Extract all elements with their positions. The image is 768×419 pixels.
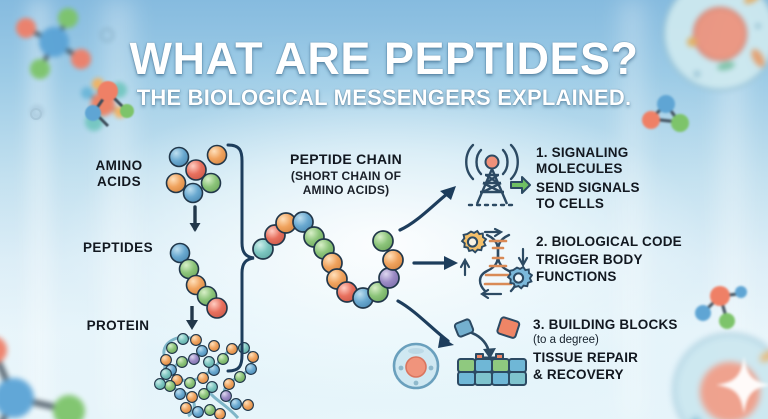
benefit-1-heading: 1. SIGNALING MOLECULES <box>536 145 736 178</box>
grouping-brace <box>222 143 258 373</box>
arrow-to-benefit-3 <box>396 295 460 351</box>
benefit-item-1: 1. SIGNALING MOLECULES SEND SIGNALS TO C… <box>536 145 736 213</box>
amino-acids-diagram <box>160 143 268 239</box>
peptide-short-chain-diagram <box>163 240 263 330</box>
benefit-3-note: (to a degree) <box>533 334 733 348</box>
benefit-2-heading: 2. BIOLOGICAL CODE <box>536 234 736 250</box>
benefit-1-body: SEND SIGNALS TO CELLS <box>536 180 736 213</box>
protein-tangle-diagram <box>152 326 270 419</box>
benefit-3-body: TISSUE REPAIR & RECOVERY <box>533 350 733 383</box>
benefit-3-heading: 3. BUILDING BLOCKS <box>533 317 733 333</box>
stage-label-protein: PROTEIN <box>72 318 164 334</box>
title-block: WHAT ARE PEPTIDES? THE BIOLOGICAL MESSEN… <box>0 36 768 109</box>
infographic-poster: WHAT ARE PEPTIDES? THE BIOLOGICAL MESSEN… <box>0 0 768 419</box>
building-blocks-icon <box>452 313 534 392</box>
page-title: WHAT ARE PEPTIDES? <box>0 36 768 81</box>
dna-gears-icon <box>457 227 533 304</box>
peptide-chain-diagram <box>252 203 412 323</box>
down-arrow-icon <box>181 306 203 334</box>
signal-tower-icon <box>459 142 531 217</box>
benefit-item-2: 2. BIOLOGICAL CODE TRIGGER BODY FUNCTION… <box>536 234 736 285</box>
benefit-2-body: TRIGGER BODY FUNCTIONS <box>536 252 736 285</box>
stage-label-amino-acids: AMINO ACIDS <box>78 158 160 190</box>
peptide-chain-subtitle: (SHORT CHAIN OF AMINO ACIDS) <box>258 170 434 198</box>
benefit-item-3: 3. BUILDING BLOCKS (to a degree) TISSUE … <box>533 317 733 383</box>
page-subtitle: THE BIOLOGICAL MESSENGERS EXPLAINED. <box>0 87 768 109</box>
stage-label-peptides: PEPTIDES <box>70 240 166 256</box>
peptide-chain-heading: PEPTIDE CHAIN (SHORT CHAIN OF AMINO ACID… <box>258 152 434 198</box>
center-cell-icon <box>388 338 444 394</box>
peptide-chain-title: PEPTIDE CHAIN <box>258 152 434 167</box>
